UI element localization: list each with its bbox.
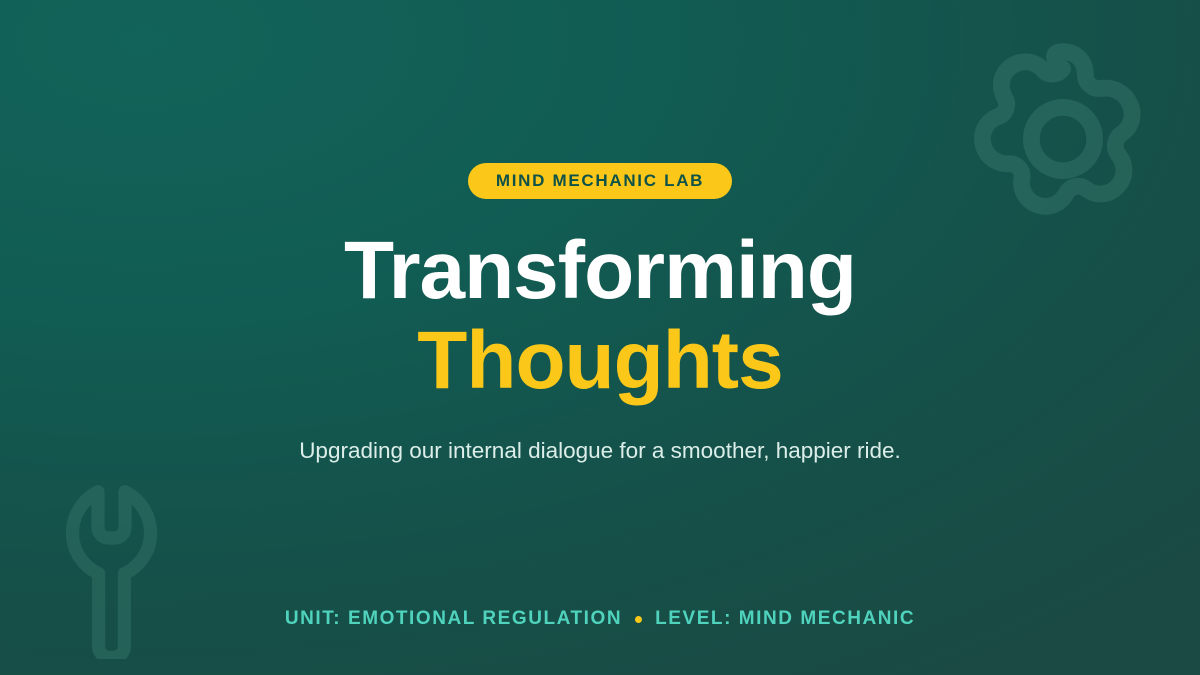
subtitle-text: Upgrading our internal dialogue for a sm… — [280, 435, 920, 467]
slide-content: MIND MECHANIC LAB Transforming Thoughts … — [0, 0, 1200, 675]
lab-badge: MIND MECHANIC LAB — [468, 163, 732, 199]
footer-bullet-icon — [635, 616, 642, 623]
title-line-accent: Thoughts — [344, 319, 856, 403]
footer-level-label: LEVEL: MIND MECHANIC — [655, 608, 915, 630]
page-title: Transforming Thoughts — [344, 229, 856, 402]
slide-canvas: MIND MECHANIC LAB Transforming Thoughts … — [0, 0, 1200, 675]
title-line-primary: Transforming — [344, 229, 856, 313]
footer-unit-label: UNIT: EMOTIONAL REGULATION — [285, 608, 622, 630]
footer-meta: UNIT: EMOTIONAL REGULATION LEVEL: MIND M… — [0, 608, 1200, 630]
